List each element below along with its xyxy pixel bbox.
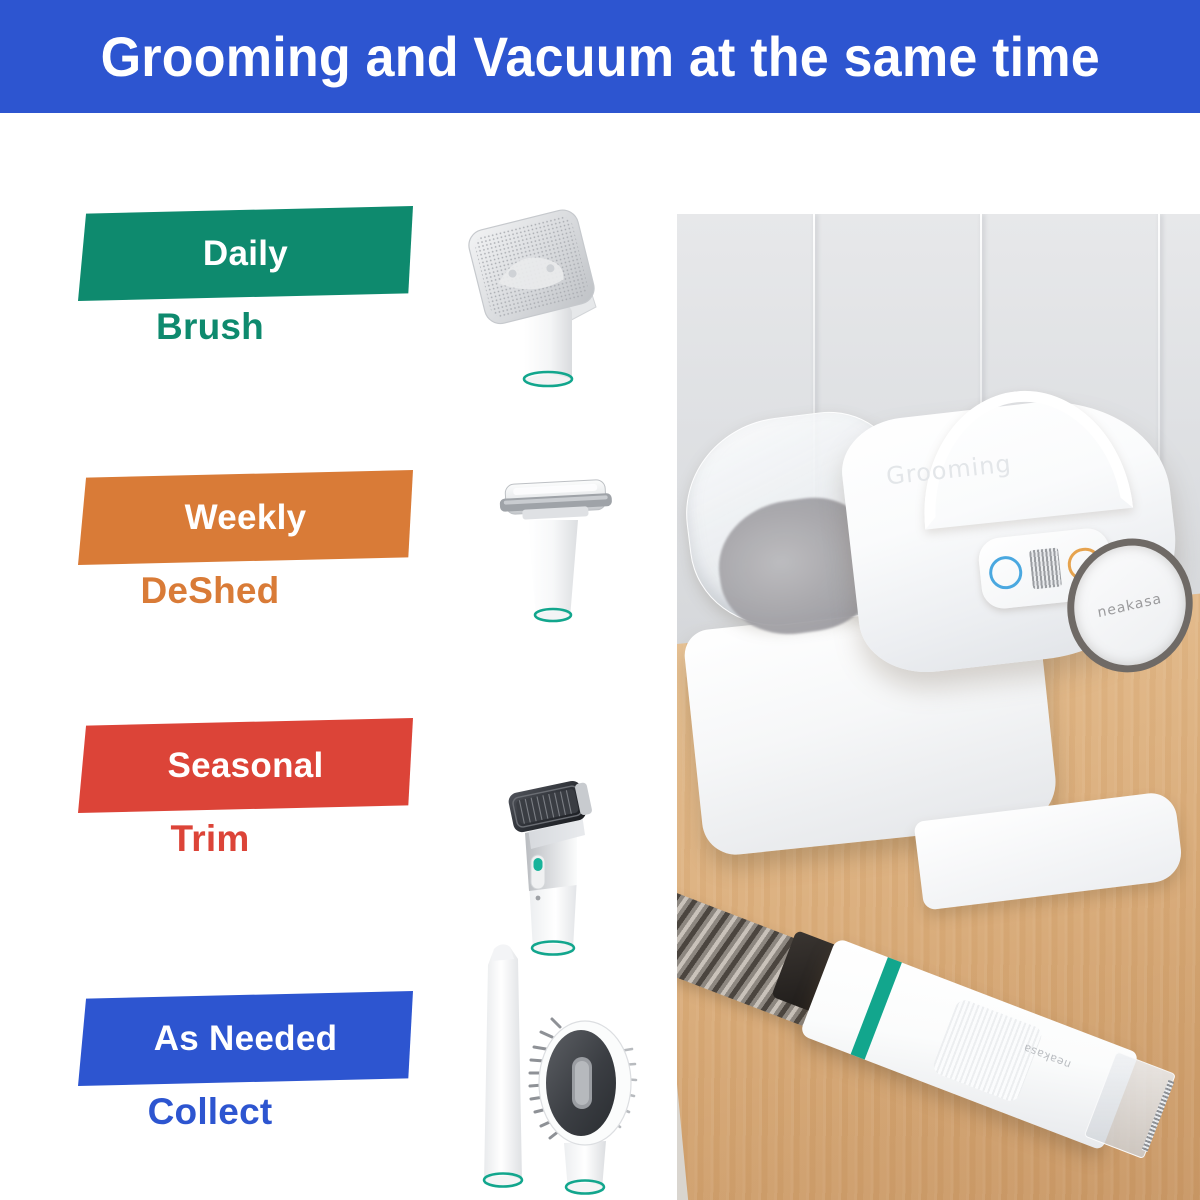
vent-grille-icon bbox=[1029, 548, 1062, 590]
page-title: Grooming and Vacuum at the same time bbox=[100, 24, 1099, 89]
nozzle-and-brush-icon bbox=[460, 931, 665, 1200]
frequency-tag-as-needed[interactable]: As Needed bbox=[78, 991, 413, 1086]
frequency-label-as-needed: As Needed bbox=[154, 1019, 338, 1059]
nozzle-and-brush-attachments[interactable] bbox=[460, 931, 665, 1200]
frequency-label-daily: Daily bbox=[203, 234, 288, 274]
action-label-brush: Brush bbox=[0, 306, 420, 348]
power-button-icon[interactable] bbox=[987, 554, 1024, 591]
clipper-teal-ring bbox=[851, 957, 902, 1059]
brand-logo: neakasa bbox=[1096, 591, 1163, 621]
frequency-tag-daily[interactable]: Daily bbox=[78, 206, 413, 301]
frequency-label-seasonal: Seasonal bbox=[167, 746, 323, 786]
deshedding-tool-icon bbox=[470, 460, 645, 650]
tag-group-daily: Daily Brush bbox=[0, 206, 420, 301]
tag-group-weekly: Weekly DeShed bbox=[0, 470, 420, 565]
tag-group-seasonal: Seasonal Trim bbox=[0, 718, 420, 813]
grooming-brush-attachment[interactable] bbox=[456, 201, 646, 401]
deshedding-tool-attachment[interactable] bbox=[470, 460, 645, 650]
product-photo: Grooming neakasa neakasa bbox=[677, 214, 1200, 1200]
action-label-trim: Trim bbox=[0, 818, 420, 860]
frequency-tag-seasonal[interactable]: Seasonal bbox=[78, 718, 413, 813]
action-label-collect: Collect bbox=[0, 1091, 420, 1133]
product-infographic: Grooming and Vacuum at the same time Dai… bbox=[0, 0, 1200, 1200]
action-label-deshed: DeShed bbox=[0, 570, 420, 612]
header-banner: Grooming and Vacuum at the same time bbox=[0, 0, 1200, 113]
frequency-tag-weekly[interactable]: Weekly bbox=[78, 470, 413, 565]
grooming-brush-icon bbox=[456, 201, 646, 401]
frequency-label-weekly: Weekly bbox=[185, 498, 307, 538]
tag-group-as-needed: As Needed Collect bbox=[0, 991, 420, 1086]
grooming-modes-list: Daily Brush bbox=[0, 113, 660, 1200]
